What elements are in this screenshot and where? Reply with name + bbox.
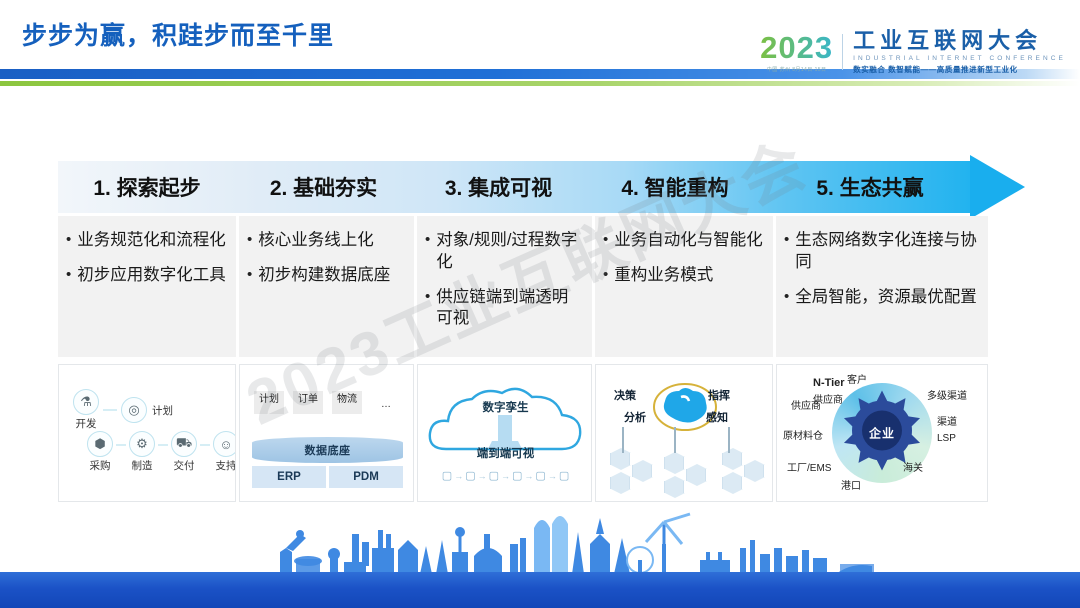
process-node: ⚗开发 bbox=[73, 389, 99, 431]
bullet-text: 业务自动化与智能化 bbox=[614, 230, 763, 252]
process-node-label: 支持 bbox=[216, 458, 237, 473]
chain-arrow-icon: → bbox=[454, 471, 463, 481]
process-row-bottom: ⬢采购⚙制造⛟交付☺支持 bbox=[87, 431, 236, 473]
illustration-panel-2: 计划订单物流…数据底座ERPPDM bbox=[239, 364, 414, 502]
business-chip: 订单 bbox=[293, 391, 323, 414]
plan-icon: ◎ bbox=[121, 397, 147, 423]
process-node: ⬢采购 bbox=[87, 431, 113, 473]
logo-year: 2023 bbox=[760, 32, 833, 63]
bullet-text: 核心业务线上化 bbox=[258, 230, 374, 252]
arrow-head-icon bbox=[970, 155, 1025, 219]
capability-tag: 决策 bbox=[614, 387, 636, 403]
process-node-label: 计划 bbox=[152, 403, 173, 418]
slide-header: 步步为赢，积跬步而至千里 2023 中国·苏州 8月14日-15日 工业互联网大… bbox=[0, 0, 1080, 100]
process-node: ⚙制造 bbox=[129, 431, 155, 473]
stage-text-panel-3: •对象/规则/过程数字化•供应链端到端透明可视 bbox=[417, 216, 592, 357]
bullet-dot-icon: • bbox=[66, 230, 71, 250]
illustration-panel-5: 企业N-Tier客户多级渠道供应商渠道原材料仓LSP工厂/EMS海关港口供应商 bbox=[776, 364, 988, 502]
bullet-text: 供应链端到端透明可视 bbox=[436, 287, 582, 331]
logo-name-block: 工业互联网大会 INDUSTRIAL INTERNET CONFERENCE 数… bbox=[843, 29, 1066, 74]
capability-tag: 指挥 bbox=[708, 387, 730, 403]
robot-arm-icon: ⚙ bbox=[129, 431, 155, 457]
bullet-item: •初步应用数字化工具 bbox=[66, 265, 226, 287]
chain-node-icon: ▢ bbox=[535, 469, 545, 482]
logo-year-block: 2023 中国·苏州 8月14日-15日 bbox=[760, 32, 842, 73]
logo-name-en: INDUSTRIAL INTERNET CONFERENCE bbox=[853, 55, 1066, 62]
chain-arrow-icon: → bbox=[524, 471, 533, 481]
stage-text-panel-2: •核心业务线上化•初步构建数据底座 bbox=[239, 216, 414, 357]
process-node-label: 开发 bbox=[76, 416, 97, 431]
skyline-silhouette-icon bbox=[0, 504, 1080, 574]
connector-line bbox=[674, 427, 676, 453]
bullet-item: •初步构建数据底座 bbox=[247, 265, 404, 287]
business-chip-row: 计划订单物流… bbox=[252, 391, 403, 414]
connector-line bbox=[116, 444, 126, 446]
connector-line bbox=[622, 427, 624, 453]
chain-arrow-icon: → bbox=[478, 471, 487, 481]
process-node: ☺支持 bbox=[213, 431, 236, 473]
stage-title-row: 1. 探索起步2. 基础夯实3. 集成可视4. 智能重构5. 生态共赢 bbox=[58, 161, 970, 213]
bullet-item: •对象/规则/过程数字化 bbox=[425, 230, 582, 274]
bullet-text: 初步构建数据底座 bbox=[258, 265, 390, 287]
system-row: ERPPDM bbox=[252, 466, 403, 488]
ecosystem-node-label: 渠道 bbox=[937, 413, 957, 428]
ecosystem-node-label: LSP bbox=[937, 433, 956, 444]
skyline-band bbox=[0, 510, 1080, 608]
bullet-item: •重构业务模式 bbox=[603, 265, 763, 287]
business-chip: … bbox=[371, 391, 401, 414]
process-row-top: ⚗开发◎计划 bbox=[73, 389, 173, 431]
truck-icon: ⛟ bbox=[171, 431, 197, 457]
system-chip[interactable]: ERP bbox=[252, 466, 326, 488]
endtoend-label: 端到端可视 bbox=[418, 445, 592, 461]
page-title: 步步为赢，积跬步而至千里 bbox=[22, 16, 334, 52]
bullet-text: 全局智能，资源最优配置 bbox=[795, 287, 977, 309]
process-node: ⛟交付 bbox=[171, 431, 197, 473]
illustration-row: ⚗开发◎计划⬢采购⚙制造⛟交付☺支持计划订单物流…数据底座ERPPDM数字孪生端… bbox=[58, 364, 988, 502]
bullet-dot-icon: • bbox=[603, 230, 608, 250]
box-icon: ⬢ bbox=[87, 431, 113, 457]
stage-title-3[interactable]: 3. 集成可视 bbox=[411, 161, 586, 213]
connector-line bbox=[200, 444, 210, 446]
bullet-item: •核心业务线上化 bbox=[247, 230, 404, 252]
bullet-item: •供应链端到端透明可视 bbox=[425, 287, 582, 331]
capability-tag: 感知 bbox=[706, 409, 728, 425]
connector-line bbox=[103, 409, 117, 411]
cloud-label: 数字孪生 bbox=[418, 399, 592, 415]
ecosystem-node-label: 海关 bbox=[903, 459, 923, 474]
chain-node-icon: ▢ bbox=[489, 469, 499, 482]
bullet-dot-icon: • bbox=[784, 287, 789, 307]
bullet-item: •全局智能，资源最优配置 bbox=[784, 287, 978, 309]
stage-title-2[interactable]: 2. 基础夯实 bbox=[236, 161, 411, 213]
stage-text-columns: •业务规范化和流程化•初步应用数字化工具•核心业务线上化•初步构建数据底座•对象… bbox=[58, 216, 988, 357]
chain-node-icon: ▢ bbox=[559, 469, 569, 482]
bullet-item: •业务自动化与智能化 bbox=[603, 230, 763, 252]
bullet-text: 重构业务模式 bbox=[614, 265, 713, 287]
stage-title-4[interactable]: 4. 智能重构 bbox=[586, 161, 764, 213]
stage-text-panel-5: •生态网络数字化连接与协同•全局智能，资源最优配置 bbox=[776, 216, 988, 357]
bullet-text: 对象/规则/过程数字化 bbox=[436, 230, 582, 274]
bullet-dot-icon: • bbox=[603, 265, 608, 285]
bullet-text: 初步应用数字化工具 bbox=[77, 265, 226, 287]
process-node-label: 交付 bbox=[174, 458, 195, 473]
ecosystem-center-label: 企业 bbox=[869, 425, 895, 442]
process-node-label: 采购 bbox=[90, 458, 111, 473]
ecosystem-node-label: 客户 bbox=[847, 371, 867, 386]
ecosystem-node-label: 工厂/EMS bbox=[787, 459, 831, 474]
stage-text-panel-1: •业务规范化和流程化•初步应用数字化工具 bbox=[58, 216, 236, 357]
chain-arrow-icon: → bbox=[501, 471, 510, 481]
business-chip: 物流 bbox=[332, 391, 362, 414]
stage-arrow-bar: 1. 探索起步2. 基础夯实3. 集成可视4. 智能重构5. 生态共赢 bbox=[58, 161, 1025, 213]
bullet-dot-icon: • bbox=[425, 230, 430, 250]
header-rule-green bbox=[0, 81, 1080, 86]
chain-node-icon: ▢ bbox=[442, 469, 452, 482]
bullet-dot-icon: • bbox=[784, 230, 789, 250]
conference-logo: 2023 中国·苏州 8月14日-15日 工业互联网大会 INDUSTRIAL … bbox=[760, 28, 1066, 76]
support-person-icon: ☺ bbox=[213, 431, 236, 457]
stage-title-1[interactable]: 1. 探索起步 bbox=[58, 161, 236, 213]
logo-year-subtitle: 中国·苏州 8月14日-15日 bbox=[767, 66, 827, 73]
connector-line bbox=[158, 444, 168, 446]
ecosystem-node-label: 原材料仓 bbox=[783, 427, 823, 442]
process-node-label: 制造 bbox=[132, 458, 153, 473]
bullet-dot-icon: • bbox=[66, 265, 71, 285]
system-chip[interactable]: PDM bbox=[329, 466, 403, 488]
bullet-dot-icon: • bbox=[247, 230, 252, 250]
connector-line bbox=[728, 427, 730, 453]
process-node: ◎计划 bbox=[121, 397, 173, 423]
ecosystem-node-label: N-Tier bbox=[813, 377, 845, 389]
bullet-dot-icon: • bbox=[425, 287, 430, 307]
bullet-dot-icon: • bbox=[247, 265, 252, 285]
bullet-item: •生态网络数字化连接与协同 bbox=[784, 230, 978, 274]
logo-name-cn: 工业互联网大会 bbox=[853, 29, 1066, 52]
supply-chain-row: ▢→▢→▢→▢→▢→▢ bbox=[418, 469, 592, 482]
ecosystem-node-label: 供应商 bbox=[813, 391, 843, 406]
illustration-panel-4: 决策指挥分析感知 bbox=[595, 364, 773, 502]
chain-arrow-icon: → bbox=[548, 471, 557, 481]
illustration-panel-1: ⚗开发◎计划⬢采购⚙制造⛟交付☺支持 bbox=[58, 364, 236, 502]
ecosystem-node-label: 港口 bbox=[841, 477, 861, 492]
capability-tag: 分析 bbox=[624, 409, 646, 425]
business-chip: 计划 bbox=[254, 391, 284, 414]
illustration-panel-3: 数字孪生端到端可视▢→▢→▢→▢→▢→▢ bbox=[417, 364, 592, 502]
flask-icon: ⚗ bbox=[73, 389, 99, 415]
stage-text-panel-4: •业务自动化与智能化•重构业务模式 bbox=[595, 216, 773, 357]
chain-node-icon: ▢ bbox=[512, 469, 522, 482]
logo-tagline: 数实融合 数智赋能——高质量推进新型工业化 bbox=[853, 64, 1066, 75]
bullet-item: •业务规范化和流程化 bbox=[66, 230, 226, 252]
bullet-text: 业务规范化和流程化 bbox=[77, 230, 226, 252]
bullet-text: 生态网络数字化连接与协同 bbox=[795, 230, 978, 274]
ecosystem-node-label: 多级渠道 bbox=[927, 387, 967, 402]
data-platform-label: 数据底座 bbox=[252, 437, 403, 463]
chain-node-icon: ▢ bbox=[465, 469, 475, 482]
stage-title-5[interactable]: 5. 生态共赢 bbox=[764, 161, 976, 213]
ground-band bbox=[0, 572, 1080, 608]
